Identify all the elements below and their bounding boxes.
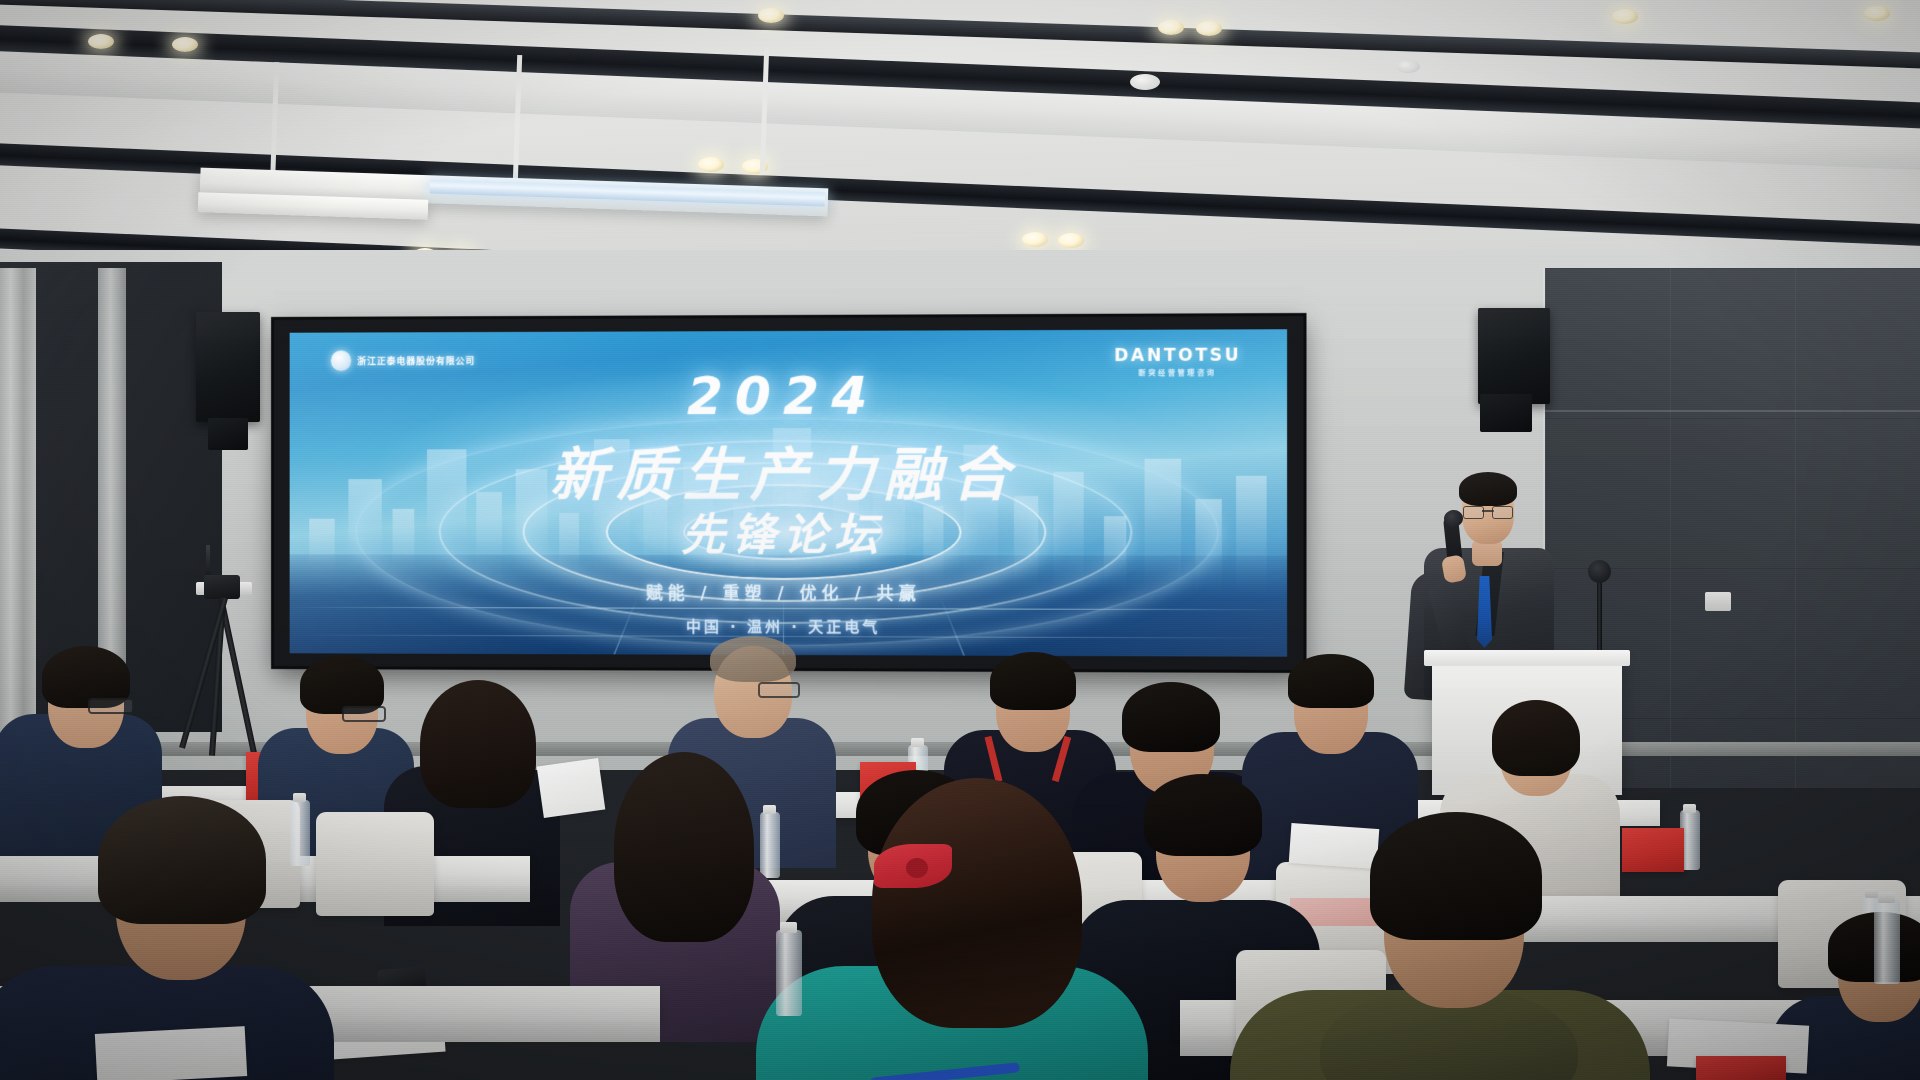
bottle-cap [293,793,306,802]
ceiling-spotlight [758,8,784,23]
ceiling-spotlight [88,34,114,49]
person-eyeglasses-icon [342,706,386,722]
person-hair [420,680,536,808]
screen-tagline: 赋能 / 重塑 / 优化 / 共赢 [290,578,1287,605]
hair-bow-knot [906,858,928,878]
screen-subheadline: 先锋论坛 [290,499,1287,564]
person-hair-bald [710,636,796,682]
speaker-necktie [1477,576,1492,648]
person-hair [98,796,266,924]
wall-speaker-left [196,312,260,422]
ceiling-spotlight [1058,233,1084,248]
floor-microphone-head-icon [1588,560,1611,583]
water-bottle [776,930,802,1016]
ceiling-spotlight [1022,232,1048,247]
ceiling-vent [1130,74,1160,90]
person-hair [1144,774,1262,856]
ceiling-vent [1396,60,1420,73]
chair [316,812,434,916]
wall-speaker-left-bracket [208,418,248,450]
bottle-cap [1683,804,1696,813]
person-hair [1370,812,1542,940]
person-eyeglasses-icon [88,698,134,714]
notepad [1289,823,1380,869]
water-bottle [290,800,310,866]
screen-logo-left-text: 浙江正泰电器股份有限公司 [357,354,475,367]
conference-hall-photo: 浙江正泰电器股份有限公司 DANTOTSU 断突经营管理咨询 2024 新质生产… [0,0,1920,1080]
speaker-hand [1441,554,1467,583]
wall-seam [1545,410,1920,412]
ceiling-spotlight [698,157,724,172]
ceiling-spotlight [1196,21,1222,36]
screen-brand-name: DANTOTSU [1114,346,1241,367]
wall-outlet [1705,592,1731,611]
wall-speaker-right [1478,308,1550,404]
person-hair-long [872,778,1082,1028]
person-eyeglasses-icon [758,682,800,698]
person-hair-long [614,752,754,942]
ceiling-spotlight [1612,9,1638,24]
tripod-head [204,575,240,599]
bottle-cap [763,805,776,814]
person-hair [1122,682,1220,752]
left-pillar [0,268,36,748]
wall-speaker-right-bracket [1480,394,1532,432]
person-hair [1492,700,1580,776]
bottle-cap [1878,892,1895,903]
left-pillar-secondary [98,268,126,688]
gift-box [1696,1056,1786,1080]
ceiling-spotlight [172,37,198,52]
water-bottle [760,812,780,878]
person-hair [1288,654,1374,708]
camera-antenna-icon [206,545,210,579]
speaker-eyeglasses-icon [1463,506,1513,517]
led-presentation-screen[interactable]: 浙江正泰电器股份有限公司 DANTOTSU 断突经营管理咨询 2024 新质生产… [274,316,1303,670]
document-sheet [95,1026,247,1080]
screen-year: 2024 [290,365,1287,427]
lectern-top [1424,650,1630,666]
person-hair [990,652,1076,710]
screen-location-line: 中国 · 温州 · 天正电气 [290,615,1287,639]
screen-surface: 浙江正泰电器股份有限公司 DANTOTSU 断突经营管理咨询 2024 新质生产… [290,329,1287,657]
speaker-hair [1459,472,1517,506]
bottle-cap [780,922,797,933]
ceiling-spotlight [1864,6,1890,21]
ceiling-spotlight [1158,20,1184,35]
gift-box [1622,828,1684,872]
bottle-cap [911,738,924,747]
bottle-cap [1865,889,1878,898]
notepad [537,758,606,818]
water-bottle [1874,900,1900,984]
